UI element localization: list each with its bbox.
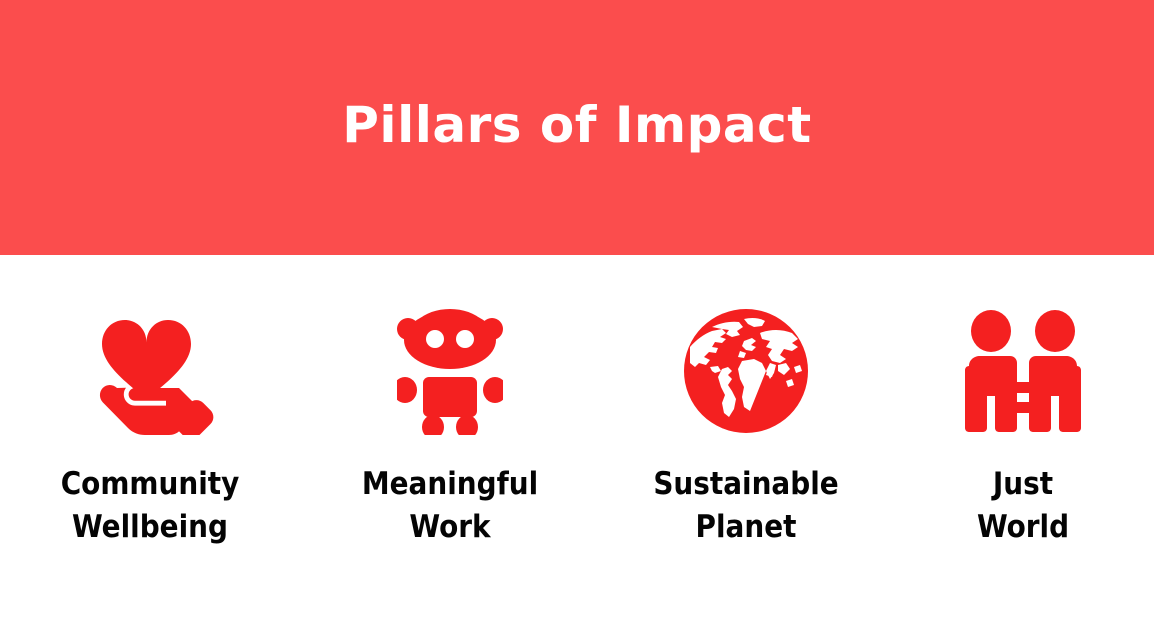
pillar-label: Meaningful Work: [362, 463, 538, 549]
robot-icon: [380, 305, 520, 437]
pillar-label: Community Wellbeing: [61, 463, 240, 549]
heart-in-hand-icon: [80, 305, 220, 437]
pillar-sustainable-planet[interactable]: Sustainable Planet: [600, 305, 892, 549]
pillars-row: Community Wellbeing: [0, 255, 1154, 643]
pillar-label: Just World: [977, 463, 1069, 549]
header-band: Pillars of Impact: [0, 0, 1154, 255]
pillar-community-wellbeing[interactable]: Community Wellbeing: [0, 305, 300, 549]
globe-icon: [676, 305, 816, 437]
pillar-meaningful-work[interactable]: Meaningful Work: [300, 305, 600, 549]
pillar-label: Sustainable Planet: [653, 463, 838, 549]
pillar-just-world[interactable]: Just World: [892, 305, 1154, 549]
pillars-of-impact-slide: Pillars of Impact Community Wellbeing: [0, 0, 1154, 643]
two-people-equality-icon: [953, 305, 1093, 437]
page-title: Pillars of Impact: [342, 100, 811, 156]
